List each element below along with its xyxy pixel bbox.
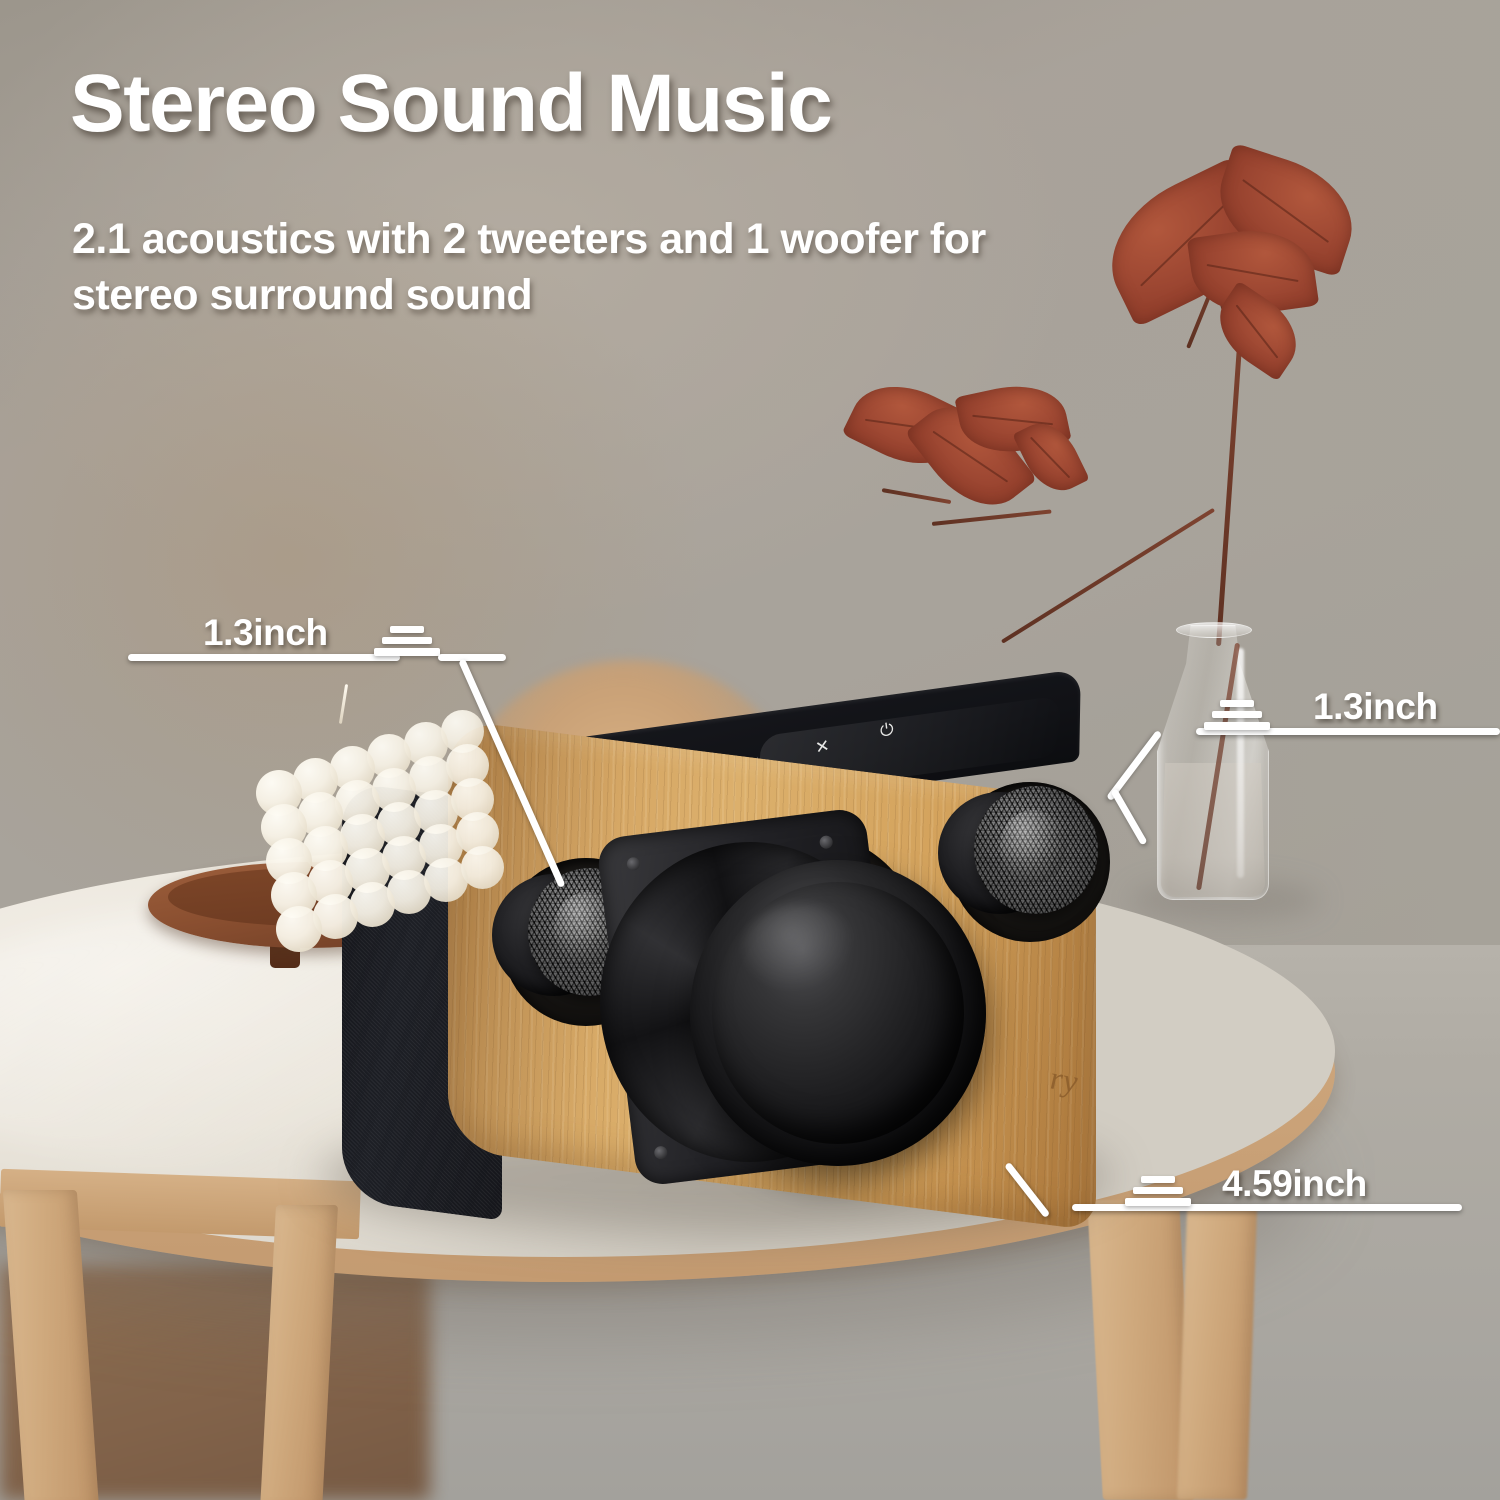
tweeter-grille-right: [974, 786, 1098, 914]
bubble-candle: [256, 718, 492, 918]
page-title: Stereo Sound Music: [70, 60, 1070, 149]
brand-logo: ry: [1049, 1058, 1095, 1105]
next-track-button[interactable]: ✕: [811, 735, 833, 760]
candle-bubble: [276, 906, 322, 952]
page-subtitle: 2.1 acoustics with 2 tweeters and 1 woof…: [72, 212, 1032, 324]
power-button[interactable]: ⏻: [876, 718, 898, 743]
callout-label-tweeter-left: 1.3inch: [203, 612, 328, 654]
callout-label-woofer: 4.59inch: [1222, 1163, 1367, 1205]
woofer: [666, 850, 986, 1170]
callout-label-tweeter-right: 1.3inch: [1313, 686, 1438, 728]
